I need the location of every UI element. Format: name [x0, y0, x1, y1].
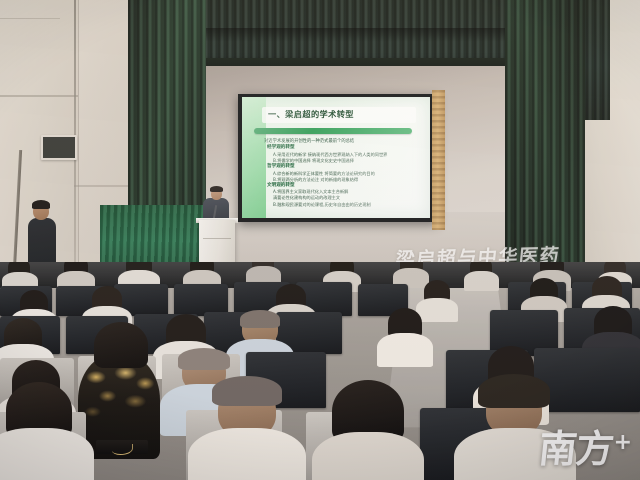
- wall-mounted-panel: [41, 135, 77, 160]
- person-hair: [94, 322, 148, 368]
- speaker-hair: [210, 186, 223, 192]
- person-shoulders: [0, 428, 94, 480]
- slide-title: 一、梁启超的学术转型: [268, 108, 354, 120]
- wall-seam-horizontal-2: [0, 18, 60, 19]
- person-shoulders: [377, 333, 433, 367]
- person-shoulders: [454, 428, 576, 480]
- slide-bullet: 对近学术发展的开创性的一种范式最前个的总结: [264, 139, 424, 145]
- wooden-column: [432, 90, 445, 230]
- person-hair: [240, 310, 280, 328]
- av-operator-torso: [28, 218, 56, 266]
- lectern-trim: [203, 238, 231, 239]
- av-operator-hair: [32, 200, 50, 209]
- projection-screen: 一、梁启超的学术转型 对近学术发展的开创性的一种范式最前个的总结 经学观的转型 …: [242, 97, 430, 218]
- person-shoulders: [188, 428, 306, 480]
- lecture-hall-photograph: 一、梁启超的学术转型 对近学术发展的开创性的一种范式最前个的总结 经学观的转型 …: [0, 0, 640, 480]
- slide-green-divider-bar: [254, 128, 412, 134]
- person-shoulders: [416, 298, 458, 322]
- person-hair: [478, 374, 550, 408]
- audience-seating-area: [0, 262, 640, 480]
- slide-section-item-1-1: B.将观两分析的方法论注 对的新维的现象结得: [273, 177, 424, 183]
- person-shoulders: [464, 271, 499, 291]
- slide-section-item-2-2: B.融和现民源要对的论课程,历史年自由由的历史现制: [273, 202, 424, 208]
- person-hair: [178, 348, 230, 370]
- person-hair: [212, 376, 282, 406]
- slide-section-heading-0: 经学观的转型: [267, 145, 424, 152]
- slide-section-item-0-1: B.将儒学的中国选择 将现文化史史中国选择: [273, 158, 424, 164]
- stage-curtain-right: [505, 0, 585, 275]
- person-shoulders: [312, 432, 424, 480]
- wall-seam-horizontal: [0, 95, 78, 97]
- slide-body: 对近学术发展的开创性的一种范式最前个的总结 经学观的转型 A.采用近代的新学 接…: [264, 139, 424, 208]
- slide-section-heading-1: 哲学观的转型: [267, 164, 424, 171]
